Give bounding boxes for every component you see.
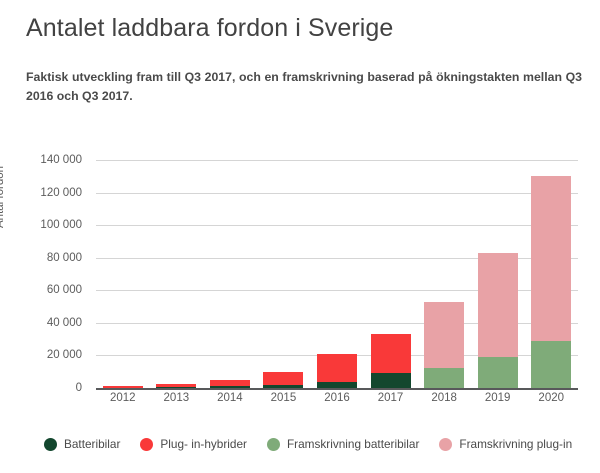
bar-column[interactable] [424,302,464,388]
x-axis-tick-label: 2012 [110,392,136,404]
bar-segment[interactable] [478,253,518,357]
legend-item-label: Framskrivning plug-in [459,437,572,451]
bar-series-group [96,160,578,388]
legend-swatch-icon [140,438,153,451]
bar-chart: Antal fordon 020 00040 00060 00080 00010… [0,0,600,473]
bar-segment[interactable] [317,354,357,382]
y-axis-tick-label: 20 000 [47,349,82,361]
bar-column[interactable] [478,253,518,388]
legend-item-label: Plug- in-hybrider [160,437,247,451]
bar-segment[interactable] [424,368,464,388]
legend-item-label: Batteribilar [64,437,120,451]
legend-item-label: Framskrivning batteribilar [287,437,419,451]
bar-column[interactable] [263,372,303,388]
bar-segment[interactable] [263,372,303,385]
y-axis-tick-labels: 020 00040 00060 00080 000100 000120 0001… [0,160,90,388]
chart-legend: BatteribilarPlug- in-hybriderFramskrivni… [44,437,592,451]
bar-segment[interactable] [371,373,411,388]
legend-item[interactable]: Framskrivning batteribilar [267,437,419,451]
bar-segment[interactable] [531,176,571,340]
legend-swatch-icon [439,438,452,451]
legend-item[interactable]: Batteribilar [44,437,120,451]
y-axis-tick-label: 60 000 [47,284,82,296]
y-axis-tick-label: 100 000 [40,219,82,231]
bar-column[interactable] [317,354,357,388]
chart-page: Antalet laddbara fordon i Sverige Faktis… [0,0,600,473]
bar-column[interactable] [531,176,571,388]
x-axis-tick-label: 2019 [485,392,511,404]
y-axis-tick-label: 80 000 [47,252,82,264]
x-axis-tick-label: 2017 [378,392,404,404]
legend-item[interactable]: Plug- in-hybrider [140,437,247,451]
bar-segment[interactable] [531,341,571,388]
plot-area [96,160,578,388]
x-axis-tick-label: 2020 [538,392,564,404]
x-axis-tick-label: 2015 [271,392,297,404]
x-axis-tick-labels: 201220132014201520162017201820192020 [96,392,578,412]
bar-segment[interactable] [424,302,464,369]
y-axis-tick-label: 40 000 [47,317,82,329]
legend-swatch-icon [267,438,280,451]
x-axis-tick-label: 2016 [324,392,350,404]
legend-swatch-icon [44,438,57,451]
x-axis-tick-label: 2013 [164,392,190,404]
x-axis-tick-label: 2014 [217,392,243,404]
y-axis-tick-label: 120 000 [40,187,82,199]
bar-segment[interactable] [371,334,411,373]
legend-item[interactable]: Framskrivning plug-in [439,437,572,451]
y-axis-tick-label: 140 000 [40,154,82,166]
bar-column[interactable] [210,380,250,388]
x-axis-tick-label: 2018 [431,392,457,404]
y-axis-tick-label: 0 [76,382,82,394]
bar-segment[interactable] [478,357,518,388]
x-axis-line [96,388,578,390]
bar-column[interactable] [371,334,411,388]
